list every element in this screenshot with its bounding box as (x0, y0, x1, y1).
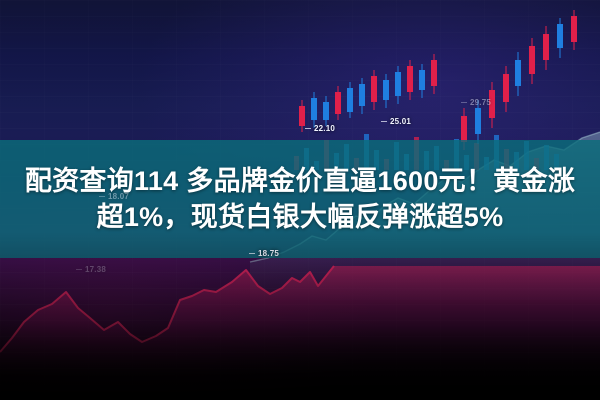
bottom-fade-overlay (0, 0, 600, 400)
banner-image: 18.07 22.10 25.01 29.75 18.75 17.38 配资查询… (0, 0, 600, 400)
